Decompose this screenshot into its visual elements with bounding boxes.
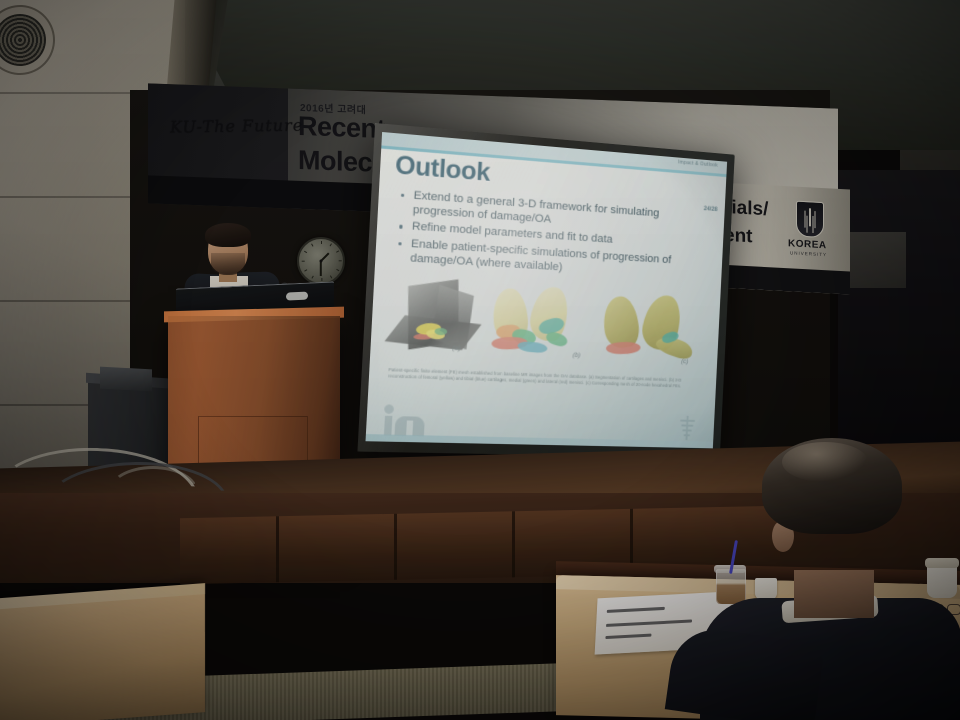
femoral-cartilage-medial — [490, 287, 530, 343]
figure-label-a: (a) — [452, 345, 461, 352]
presentation-slide: Impact & Outlook Outlook 24/28 Extend to… — [366, 132, 728, 448]
figure-panel-b-reconstruction — [488, 284, 601, 367]
banner-headline-1: Recent — [298, 111, 385, 145]
laptop-sticker — [286, 292, 308, 301]
projector-glow — [366, 132, 728, 448]
mri-sagittal-plane — [432, 285, 474, 350]
audience-member — [690, 438, 960, 720]
slide-bullet-list: Extend to a general 3-D framework for si… — [394, 187, 716, 285]
projection-screen: Impact & Outlook Outlook 24/28 Extend to… — [357, 123, 734, 458]
wall-clock-icon — [297, 237, 345, 285]
crest-name-label: KOREA — [788, 238, 827, 251]
im-logo-icon — [381, 404, 429, 436]
mri-segment-green — [434, 328, 447, 336]
presenter-beard — [211, 253, 245, 275]
presenter-hair — [205, 223, 251, 247]
mri-coronal-plane — [408, 279, 458, 349]
mri-segment-red — [413, 333, 434, 340]
meniscus-green — [511, 327, 538, 346]
slide-figure: (a) (b) — [387, 278, 707, 373]
mri-segment-yellow — [416, 322, 442, 336]
lecture-hall-photo: KU-The Future 2016년 고려대 Recent Molecu ri… — [0, 0, 960, 720]
audience-hair-highlight — [782, 442, 868, 482]
clock-minute-hand — [320, 261, 322, 276]
mesh-tibial-red — [606, 342, 641, 355]
figure-label-b: (b) — [572, 352, 580, 359]
femoral-cartilage-lateral — [527, 284, 570, 343]
audience-neck — [794, 570, 874, 618]
door-frame — [846, 232, 906, 288]
av-equipment-box — [100, 367, 152, 392]
banner-script-text: KU-The Future — [170, 116, 304, 137]
left-desk-edge — [0, 583, 205, 610]
mri-segment-yellow-2 — [426, 328, 446, 340]
figure-panel-c-mesh — [601, 292, 706, 371]
crest-sub-label: UNIVERSITY — [790, 250, 827, 257]
meniscus-green-2 — [545, 330, 569, 348]
clock-center-pin — [320, 260, 323, 263]
tibial-cartilage-blue — [517, 340, 548, 353]
left-desk-surface — [0, 583, 205, 720]
meniscus-orange — [496, 324, 521, 339]
banner-right-segment: rials/ ent KOREA UNIVERSITY — [718, 183, 850, 295]
korea-university-crest-icon — [796, 201, 824, 238]
figure-label-c: (c) — [681, 358, 688, 365]
